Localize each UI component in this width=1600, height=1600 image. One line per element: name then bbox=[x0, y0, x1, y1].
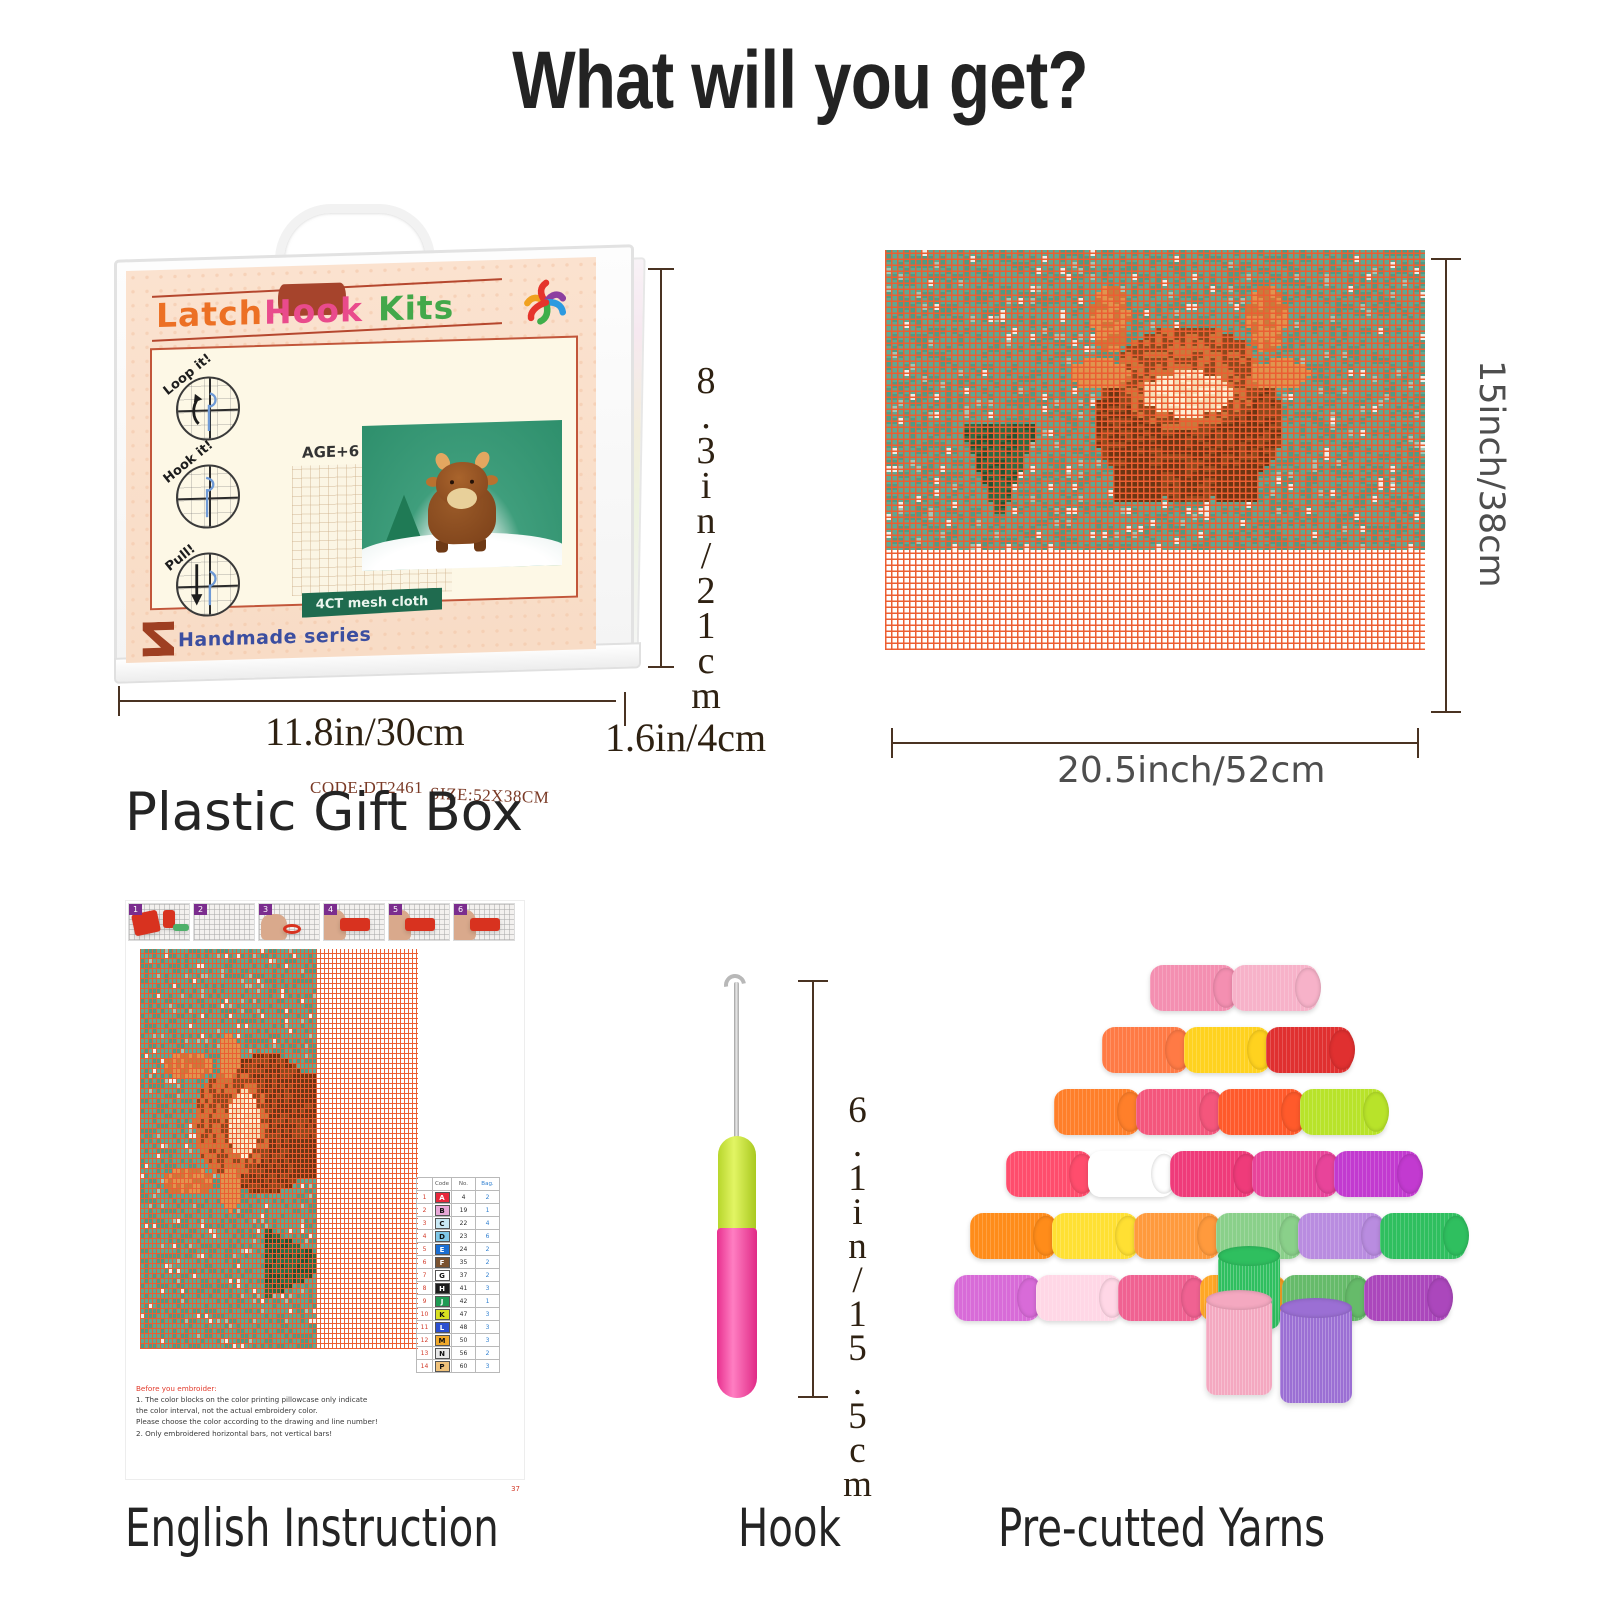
label-series-text: Handmade series bbox=[178, 624, 371, 652]
legend-row: 11L483 bbox=[417, 1321, 500, 1334]
step-diagram-loop bbox=[176, 376, 240, 442]
legend-row-index: 8 bbox=[417, 1282, 433, 1295]
yarn-bundle-end bbox=[1363, 1092, 1389, 1132]
yarn-bundle-top bbox=[1280, 1298, 1352, 1318]
mesh-pixel-row bbox=[885, 640, 1425, 646]
hook-grip-lower bbox=[717, 1228, 757, 1398]
tutorial-photo-2: 2 bbox=[193, 903, 255, 941]
legend-row-bag: 2 bbox=[476, 1191, 500, 1204]
legend-row-index: 1 bbox=[417, 1191, 433, 1204]
yarn-bundle-top bbox=[1206, 1290, 1272, 1310]
step-diagram-hook bbox=[176, 464, 240, 530]
yarn-bundle bbox=[1252, 1151, 1338, 1197]
tutorial-photo-badge: 6 bbox=[454, 904, 467, 915]
yarn-bundle bbox=[1334, 1151, 1420, 1197]
legend-row-no: 56 bbox=[452, 1347, 476, 1360]
yarn-bundle-upright bbox=[1206, 1299, 1272, 1395]
legend-row-code: E bbox=[433, 1243, 452, 1256]
legend-row-no: 42 bbox=[452, 1295, 476, 1308]
legend-row: 9J421 bbox=[417, 1295, 500, 1308]
yarn-bundle bbox=[1298, 1213, 1384, 1259]
legend-row: 10K473 bbox=[417, 1308, 500, 1321]
yarn-bundle-end bbox=[1427, 1278, 1453, 1318]
legend-row-bag: 2 bbox=[476, 1269, 500, 1282]
color-legend-table: Code No. Bag. 1A422B1913C2244D2365E2426F… bbox=[416, 1177, 500, 1373]
yarn-bundle bbox=[970, 1213, 1056, 1259]
legend-row-no: 19 bbox=[452, 1204, 476, 1217]
legend-row: 5E242 bbox=[417, 1243, 500, 1256]
canvas-height-cap-top bbox=[1431, 258, 1461, 260]
yarn-bundle bbox=[1054, 1089, 1140, 1135]
legend-header-bag: Bag. bbox=[476, 1178, 500, 1191]
caption-english-instruction: English Instruction bbox=[125, 1498, 499, 1559]
canvas-height-dimension-line bbox=[1445, 258, 1447, 713]
legend-row-bag: 3 bbox=[476, 1360, 500, 1373]
legend-header-no: No. bbox=[452, 1178, 476, 1191]
canvas-width-cap-right bbox=[1417, 728, 1419, 758]
box-width-cap-left bbox=[118, 686, 120, 716]
legend-row-no: 4 bbox=[452, 1191, 476, 1204]
legend-color-swatch: P bbox=[435, 1361, 450, 1372]
legend-color-swatch: C bbox=[435, 1218, 450, 1229]
legend-row-index: 13 bbox=[417, 1347, 433, 1360]
page-title: What will you get? bbox=[144, 34, 1456, 128]
box-depth-label: 1.6in/4cm bbox=[605, 714, 766, 761]
legend-color-swatch: A bbox=[435, 1192, 450, 1203]
legend-color-swatch: F bbox=[435, 1257, 450, 1268]
yarn-bundle bbox=[1184, 1027, 1270, 1073]
cow-artwork-preview bbox=[362, 420, 562, 571]
preview-tree-icon bbox=[386, 494, 422, 541]
yarn-bundle-end bbox=[1443, 1216, 1469, 1256]
legend-row-bag: 4 bbox=[476, 1217, 500, 1230]
yarn-bundle bbox=[1006, 1151, 1092, 1197]
tutorial-photo-5: 5 bbox=[388, 903, 450, 941]
legend-row-code: L bbox=[433, 1321, 452, 1334]
legend-row-code: G bbox=[433, 1269, 452, 1282]
hook-length-cap-bottom bbox=[798, 1396, 828, 1398]
yarn-bundle bbox=[1088, 1151, 1174, 1197]
yarn-bundle-end bbox=[1397, 1154, 1423, 1194]
legend-row-no: 22 bbox=[452, 1217, 476, 1230]
yarn-bundle-end bbox=[1329, 1030, 1355, 1070]
yarn-bundle bbox=[1118, 1275, 1204, 1321]
legend-color-swatch: H bbox=[435, 1283, 450, 1294]
hook-length-dimension-line bbox=[812, 980, 814, 1398]
legend-row-index: 3 bbox=[417, 1217, 433, 1230]
yarn-bundle-end bbox=[1295, 968, 1321, 1008]
hook-tool-panel: 6.1in/15.5cm bbox=[690, 960, 910, 1430]
yarn-bundle bbox=[1036, 1275, 1122, 1321]
legend-row-index: 6 bbox=[417, 1256, 433, 1269]
notes-header: Before you embroider: bbox=[136, 1383, 426, 1394]
legend-row-no: 47 bbox=[452, 1308, 476, 1321]
box-height-label: 8.3in/21cm bbox=[684, 360, 728, 710]
legend-row: 6F352 bbox=[417, 1256, 500, 1269]
legend-row-code: B bbox=[433, 1204, 452, 1217]
legend-row-no: 48 bbox=[452, 1321, 476, 1334]
legend-color-swatch: B bbox=[435, 1205, 450, 1216]
box-printed-label: Latch Hook Kits Loop it! bbox=[126, 257, 596, 663]
legend-row-bag: 3 bbox=[476, 1308, 500, 1321]
label-title-word-latch: Latch bbox=[156, 293, 263, 335]
legend-row-bag: 3 bbox=[476, 1282, 500, 1295]
yarn-bundle bbox=[1266, 1027, 1352, 1073]
yarn-bundle bbox=[1134, 1213, 1220, 1259]
legend-row: 1A42 bbox=[417, 1191, 500, 1204]
legend-row-no: 35 bbox=[452, 1256, 476, 1269]
legend-color-swatch: J bbox=[435, 1296, 450, 1307]
printed-mesh-canvas bbox=[885, 250, 1425, 650]
legend-row-code: K bbox=[433, 1308, 452, 1321]
legend-row-bag: 3 bbox=[476, 1334, 500, 1347]
legend-row-index: 9 bbox=[417, 1295, 433, 1308]
legend-row-index: 7 bbox=[417, 1269, 433, 1282]
label-title: Latch Hook Kits bbox=[156, 284, 486, 338]
legend-row-code: A bbox=[433, 1191, 452, 1204]
legend-row-index: 4 bbox=[417, 1230, 433, 1243]
legend-row: 4D236 bbox=[417, 1230, 500, 1243]
legend-row-no: 23 bbox=[452, 1230, 476, 1243]
tutorial-photo-badge: 4 bbox=[324, 904, 337, 915]
tutorial-photo-6: 6 bbox=[453, 903, 515, 941]
notes-line-3: Please choose the color according to the… bbox=[136, 1416, 426, 1427]
hook-needle-shaft bbox=[734, 982, 739, 1142]
legend-total-count: 37 bbox=[511, 1485, 520, 1493]
canvas-width-label: 20.5inch/52cm bbox=[1057, 750, 1325, 791]
legend-row-index: 10 bbox=[417, 1308, 433, 1321]
legend-row: 8H413 bbox=[417, 1282, 500, 1295]
canvas-width-dimension-line bbox=[891, 742, 1419, 744]
legend-color-swatch: D bbox=[435, 1231, 450, 1242]
legend-row: 13N562 bbox=[417, 1347, 500, 1360]
hook-grip-upper bbox=[718, 1136, 756, 1232]
legend-header-code: Code bbox=[433, 1178, 452, 1191]
tutorial-photo-4: 4 bbox=[323, 903, 385, 941]
legend-row: 7G372 bbox=[417, 1269, 500, 1282]
tutorial-photo-badge: 3 bbox=[259, 904, 272, 915]
legend-color-swatch: L bbox=[435, 1322, 450, 1333]
legend-row-no: 60 bbox=[452, 1360, 476, 1373]
tutorial-photo-3: 3 bbox=[258, 903, 320, 941]
legend-color-swatch: K bbox=[435, 1309, 450, 1320]
label-bolt-ornament-icon bbox=[140, 622, 174, 657]
legend-row-no: 24 bbox=[452, 1243, 476, 1256]
legend-row-index: 11 bbox=[417, 1321, 433, 1334]
printed-canvas-panel: 15inch/38cm 20.5inch/52cm bbox=[885, 250, 1425, 650]
instruction-notes: Before you embroider: 1. The color block… bbox=[136, 1383, 426, 1439]
yarn-bundle bbox=[1218, 1089, 1304, 1135]
legend-row-code: J bbox=[433, 1295, 452, 1308]
tutorial-photo-badge: 5 bbox=[389, 904, 402, 915]
yarn-bundle-top bbox=[1218, 1246, 1280, 1266]
tutorial-photo-strip: 123456 bbox=[128, 903, 515, 941]
caption-gift-box: Plastic Gift Box bbox=[125, 782, 523, 843]
hook-length-label: 6.1in/15.5cm bbox=[836, 1090, 879, 1498]
legend-row-code: F bbox=[433, 1256, 452, 1269]
yarn-bundle bbox=[1102, 1027, 1188, 1073]
legend-color-swatch: N bbox=[435, 1348, 450, 1359]
legend-row-code: N bbox=[433, 1347, 452, 1360]
legend-row-bag: 1 bbox=[476, 1204, 500, 1217]
label-title-word-hook: Hook bbox=[264, 290, 363, 332]
legend-row-bag: 2 bbox=[476, 1347, 500, 1360]
english-instruction-panel: 123456 Code No. Bag. 1A422B1913C2244D236… bbox=[125, 900, 525, 1480]
caption-yarns: Pre-cutted Yarns bbox=[998, 1498, 1325, 1559]
legend-row-index: 2 bbox=[417, 1204, 433, 1217]
legend-row-code: H bbox=[433, 1282, 452, 1295]
box-height-dimension-line bbox=[660, 268, 662, 668]
box-width-dimension-line bbox=[118, 700, 616, 702]
legend-color-swatch: M bbox=[435, 1335, 450, 1346]
legend-row-bag: 2 bbox=[476, 1256, 500, 1269]
tutorial-photo-1: 1 bbox=[128, 903, 190, 941]
age-recommendation-text: AGE+6 ! bbox=[302, 442, 371, 462]
canvas-height-cap-bottom bbox=[1431, 711, 1461, 713]
caption-hook: Hook bbox=[738, 1498, 841, 1559]
yarn-bundle bbox=[1364, 1275, 1450, 1321]
yarn-bundle bbox=[1232, 965, 1318, 1011]
hook-length-cap-top bbox=[798, 980, 828, 982]
legend-row-bag: 1 bbox=[476, 1295, 500, 1308]
canvas-width-cap-left bbox=[891, 728, 893, 758]
tutorial-photo-badge: 1 bbox=[129, 904, 142, 915]
pre-cut-yarns-panel bbox=[950, 955, 1470, 1425]
legend-row-no: 37 bbox=[452, 1269, 476, 1282]
notes-line-1: 1. The color blocks on the color printin… bbox=[136, 1394, 426, 1405]
legend-row-bag: 3 bbox=[476, 1321, 500, 1334]
box-width-label: 11.8in/30cm bbox=[265, 708, 465, 755]
step-diagram-pull bbox=[176, 552, 240, 618]
legend-row-no: 50 bbox=[452, 1334, 476, 1347]
gift-box-panel: Latch Hook Kits Loop it! bbox=[100, 180, 800, 760]
legend-row: 12M503 bbox=[417, 1334, 500, 1347]
tutorial-photo-badge: 2 bbox=[194, 904, 207, 915]
legend-header-index bbox=[417, 1178, 433, 1191]
legend-row-bag: 6 bbox=[476, 1230, 500, 1243]
label-title-word-kits: Kits bbox=[378, 287, 454, 328]
yarn-bundle bbox=[1300, 1089, 1386, 1135]
legend-row-code: P bbox=[433, 1360, 452, 1373]
label-inner-panel: Loop it! Hook it! Pull! bbox=[150, 336, 578, 611]
yarn-bundle bbox=[1136, 1089, 1222, 1135]
yarn-bundle-upright bbox=[1280, 1307, 1352, 1403]
legend-row: 3C224 bbox=[417, 1217, 500, 1230]
legend-row-index: 5 bbox=[417, 1243, 433, 1256]
yarn-bundle bbox=[1380, 1213, 1466, 1259]
yarn-bundle bbox=[954, 1275, 1040, 1321]
instruction-chart-grid-overlay bbox=[140, 949, 418, 1349]
legend-color-swatch: E bbox=[435, 1244, 450, 1255]
notes-line-2: the color interval, not the actual embro… bbox=[136, 1405, 426, 1416]
notes-line-4: 2. Only embroidered horizontal bars, not… bbox=[136, 1428, 426, 1439]
legend-row-code: C bbox=[433, 1217, 452, 1230]
legend-row-no: 41 bbox=[452, 1282, 476, 1295]
legend-header-row: Code No. Bag. bbox=[417, 1178, 500, 1191]
legend-row-index: 14 bbox=[417, 1360, 433, 1373]
legend-color-swatch: G bbox=[435, 1270, 450, 1281]
pinwheel-logo-icon bbox=[518, 274, 574, 332]
legend-row: 14P603 bbox=[417, 1360, 500, 1373]
canvas-height-label: 15inch/38cm bbox=[1471, 360, 1511, 588]
legend-row-code: M bbox=[433, 1334, 452, 1347]
box-height-cap-bottom bbox=[648, 666, 674, 668]
box-height-cap-top bbox=[648, 268, 674, 270]
legend-row-bag: 2 bbox=[476, 1243, 500, 1256]
yarn-bundle bbox=[1170, 1151, 1256, 1197]
legend-row: 2B191 bbox=[417, 1204, 500, 1217]
legend-row-code: D bbox=[433, 1230, 452, 1243]
yarn-bundle bbox=[1052, 1213, 1138, 1259]
legend-row-index: 12 bbox=[417, 1334, 433, 1347]
yarn-bundle bbox=[1150, 965, 1236, 1011]
